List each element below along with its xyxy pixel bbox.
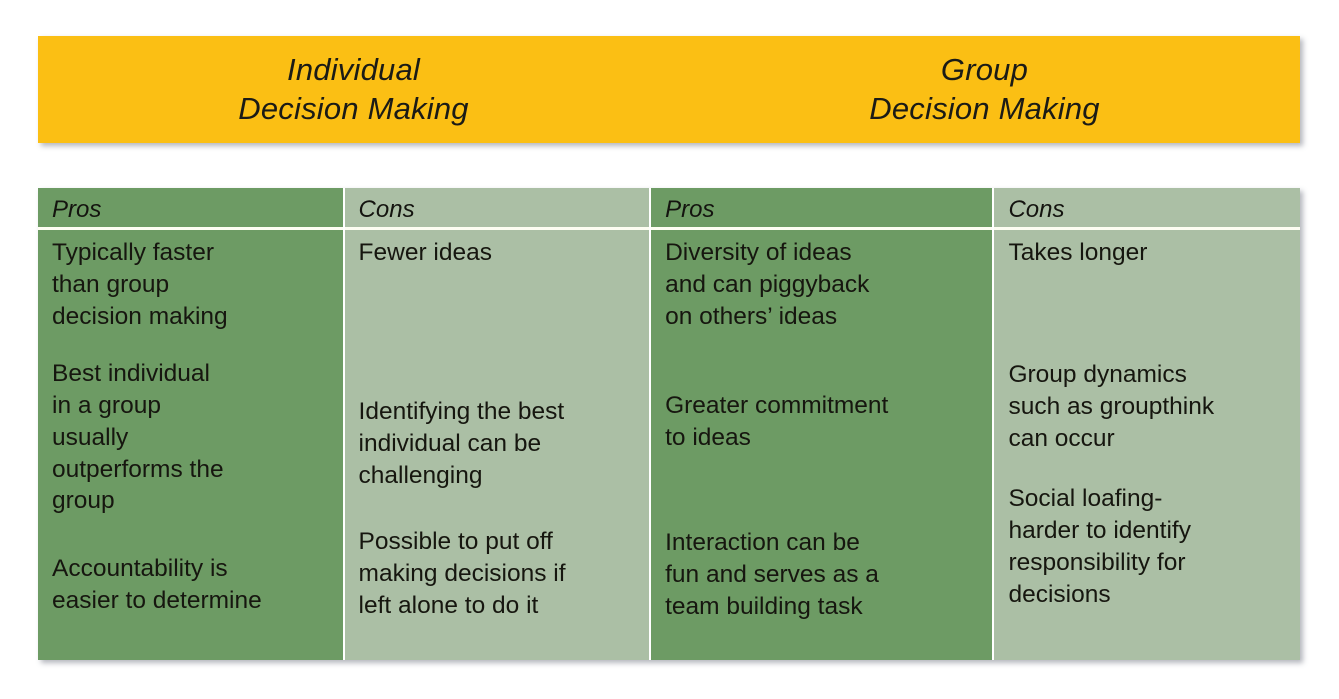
list-item: Identifying the best individual can be c… <box>359 396 642 492</box>
column-body-individual-pros: Typically faster than group decision mak… <box>38 230 343 660</box>
list-item: Typically faster than group decision mak… <box>52 237 335 333</box>
column-body-group-cons: Takes longer Group dynamics such as grou… <box>994 230 1300 660</box>
column-individual-cons: Cons Fewer ideas Identifying the best in… <box>343 188 650 660</box>
column-body-individual-cons: Fewer ideas Identifying the best individ… <box>345 230 650 660</box>
list-item: Diversity of ideas and can piggyback on … <box>665 237 984 333</box>
list-item: Accountability is easier to determine <box>52 553 335 617</box>
list-item: Greater commitment to ideas <box>665 390 984 454</box>
title-banner: Individual Decision Making Group Decisio… <box>38 36 1300 143</box>
list-item: Interaction can be fun and serves as a t… <box>665 527 984 623</box>
banner-individual-decision-making: Individual Decision Making <box>38 36 669 143</box>
column-group-pros: Pros Diversity of ideas and can piggybac… <box>649 188 992 660</box>
list-item: Group dynamics such as groupthink can oc… <box>1008 359 1292 455</box>
column-individual-pros: Pros Typically faster than group decisio… <box>38 188 343 660</box>
column-group-cons: Cons Takes longer Group dynamics such as… <box>992 188 1300 660</box>
list-item: Best individual in a group usually outpe… <box>52 358 335 517</box>
list-item: Social loafing- harder to identify respo… <box>1008 483 1292 610</box>
figure-canvas: Individual Decision Making Group Decisio… <box>0 0 1339 699</box>
banner-individual-line2: Decision Making <box>238 90 468 128</box>
list-item: Takes longer <box>1008 237 1292 269</box>
banner-group-line1: Group <box>941 51 1028 89</box>
banner-group-decision-making: Group Decision Making <box>669 36 1300 143</box>
column-header-individual-cons: Cons <box>345 188 650 230</box>
column-header-individual-pros: Pros <box>38 188 343 230</box>
list-item: Fewer ideas <box>359 237 642 269</box>
banner-group-line2: Decision Making <box>869 90 1099 128</box>
list-item: Possible to put off making decisions if … <box>359 526 642 622</box>
column-header-group-pros: Pros <box>651 188 992 230</box>
banner-individual-line1: Individual <box>287 51 420 89</box>
column-header-group-cons: Cons <box>994 188 1300 230</box>
column-body-group-pros: Diversity of ideas and can piggyback on … <box>651 230 992 660</box>
pros-cons-table: Pros Typically faster than group decisio… <box>38 188 1300 660</box>
